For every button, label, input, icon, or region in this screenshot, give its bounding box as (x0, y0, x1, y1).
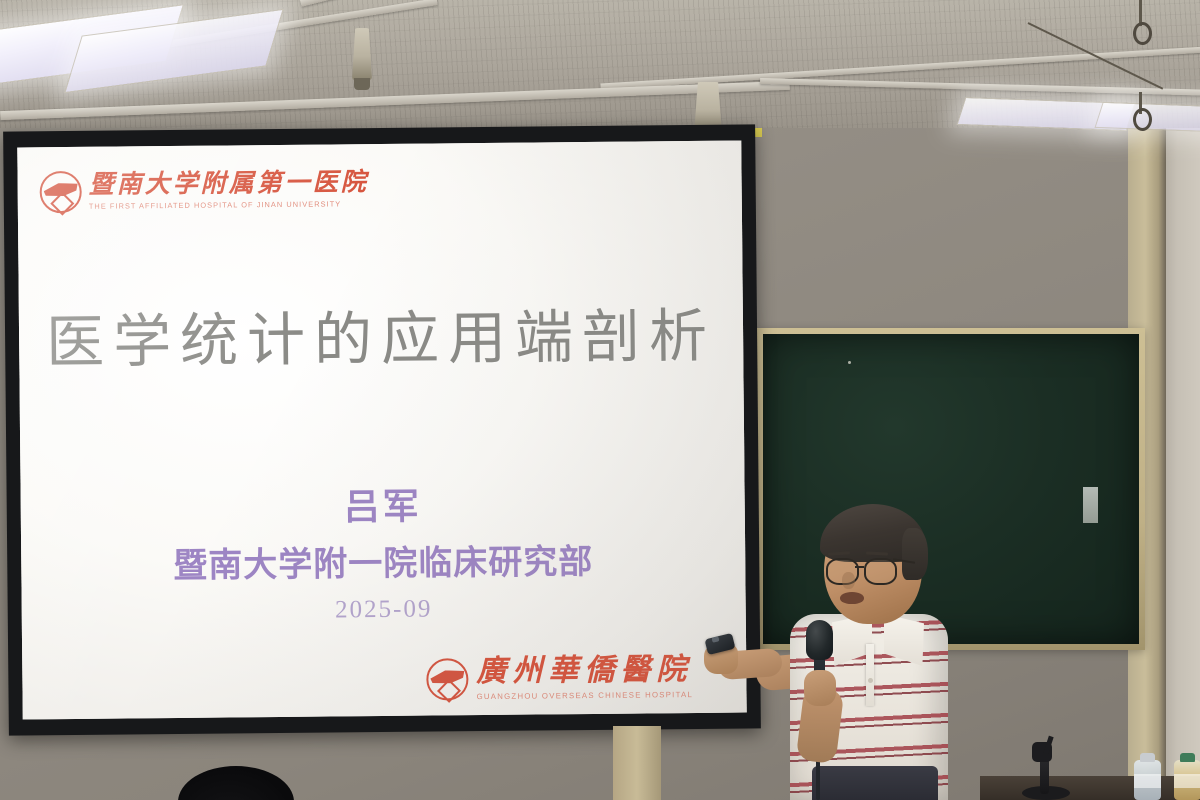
lecture-hall-photo: 暨南大学附属第一医院 THE FIRST AFFILIATED HOSPITAL… (0, 0, 1200, 800)
header-logo-chinese-text: 暨南大学附属第一医院 (89, 170, 369, 198)
eyeglasses-lens-right (864, 558, 897, 585)
slide-presenter-name: 吕军 (20, 475, 744, 534)
presenter-trousers (812, 766, 938, 800)
ceiling-hanger-loop (1133, 108, 1152, 131)
ceiling-speaker-tip (354, 78, 370, 90)
slide-affiliation: 暨南大学附一院临床研究部 (21, 533, 745, 589)
ceiling-hanger-loop (1133, 22, 1152, 45)
presentation-slide: 暨南大学附属第一医院 THE FIRST AFFILIATED HOSPITAL… (17, 141, 746, 720)
presenter-hair-side (902, 528, 928, 580)
header-logo-english-text: THE FIRST AFFILIATED HOSPITAL OF JINAN U… (89, 199, 369, 211)
water-bottle-label (1134, 774, 1161, 788)
footer-logo-chinese-text: 廣州華僑醫院 (476, 655, 693, 687)
ceiling-speaker-cone (352, 28, 372, 80)
jinan-university-hospital-emblem-icon (40, 171, 82, 213)
footer-logo-english-text: GUANGZHOU OVERSEAS CHINESE HOSPITAL (477, 690, 694, 701)
slide-date: 2025-09 (22, 593, 746, 628)
water-bottle-label (1174, 774, 1200, 788)
projection-screen-surface: 暨南大学附属第一医院 THE FIRST AFFILIATED HOSPITAL… (17, 141, 746, 720)
wooden-pillar-center (613, 726, 661, 800)
water-bottle-cap (1180, 753, 1195, 762)
slide-title: 医学统计的应用端剖析 (19, 289, 744, 380)
slide-footer-logo: 廣州華僑醫院 GUANGZHOU OVERSEAS CHINESE HOSPIT… (426, 655, 693, 702)
microphone-head (806, 620, 833, 660)
presenter-mouth (840, 592, 864, 604)
right-wall-panel (1162, 96, 1200, 800)
projection-screen-frame: 暨南大学附属第一医院 THE FIRST AFFILIATED HOSPITAL… (3, 124, 761, 735)
eyeglasses-bridge (855, 566, 864, 568)
front-desk (980, 776, 1200, 800)
blackboard-chalk-speck (848, 361, 851, 364)
slide-header-logo: 暨南大学附属第一医院 THE FIRST AFFILIATED HOSPITAL… (40, 168, 369, 213)
guangzhou-overseas-chinese-hospital-emblem-icon (426, 658, 468, 700)
polo-placket (866, 644, 874, 706)
blackboard-paper-note (1083, 487, 1098, 523)
presenter-left-hand (804, 670, 836, 706)
presenter-nose (842, 572, 855, 589)
water-bottle-cap (1140, 753, 1155, 762)
polo-button (868, 678, 873, 683)
